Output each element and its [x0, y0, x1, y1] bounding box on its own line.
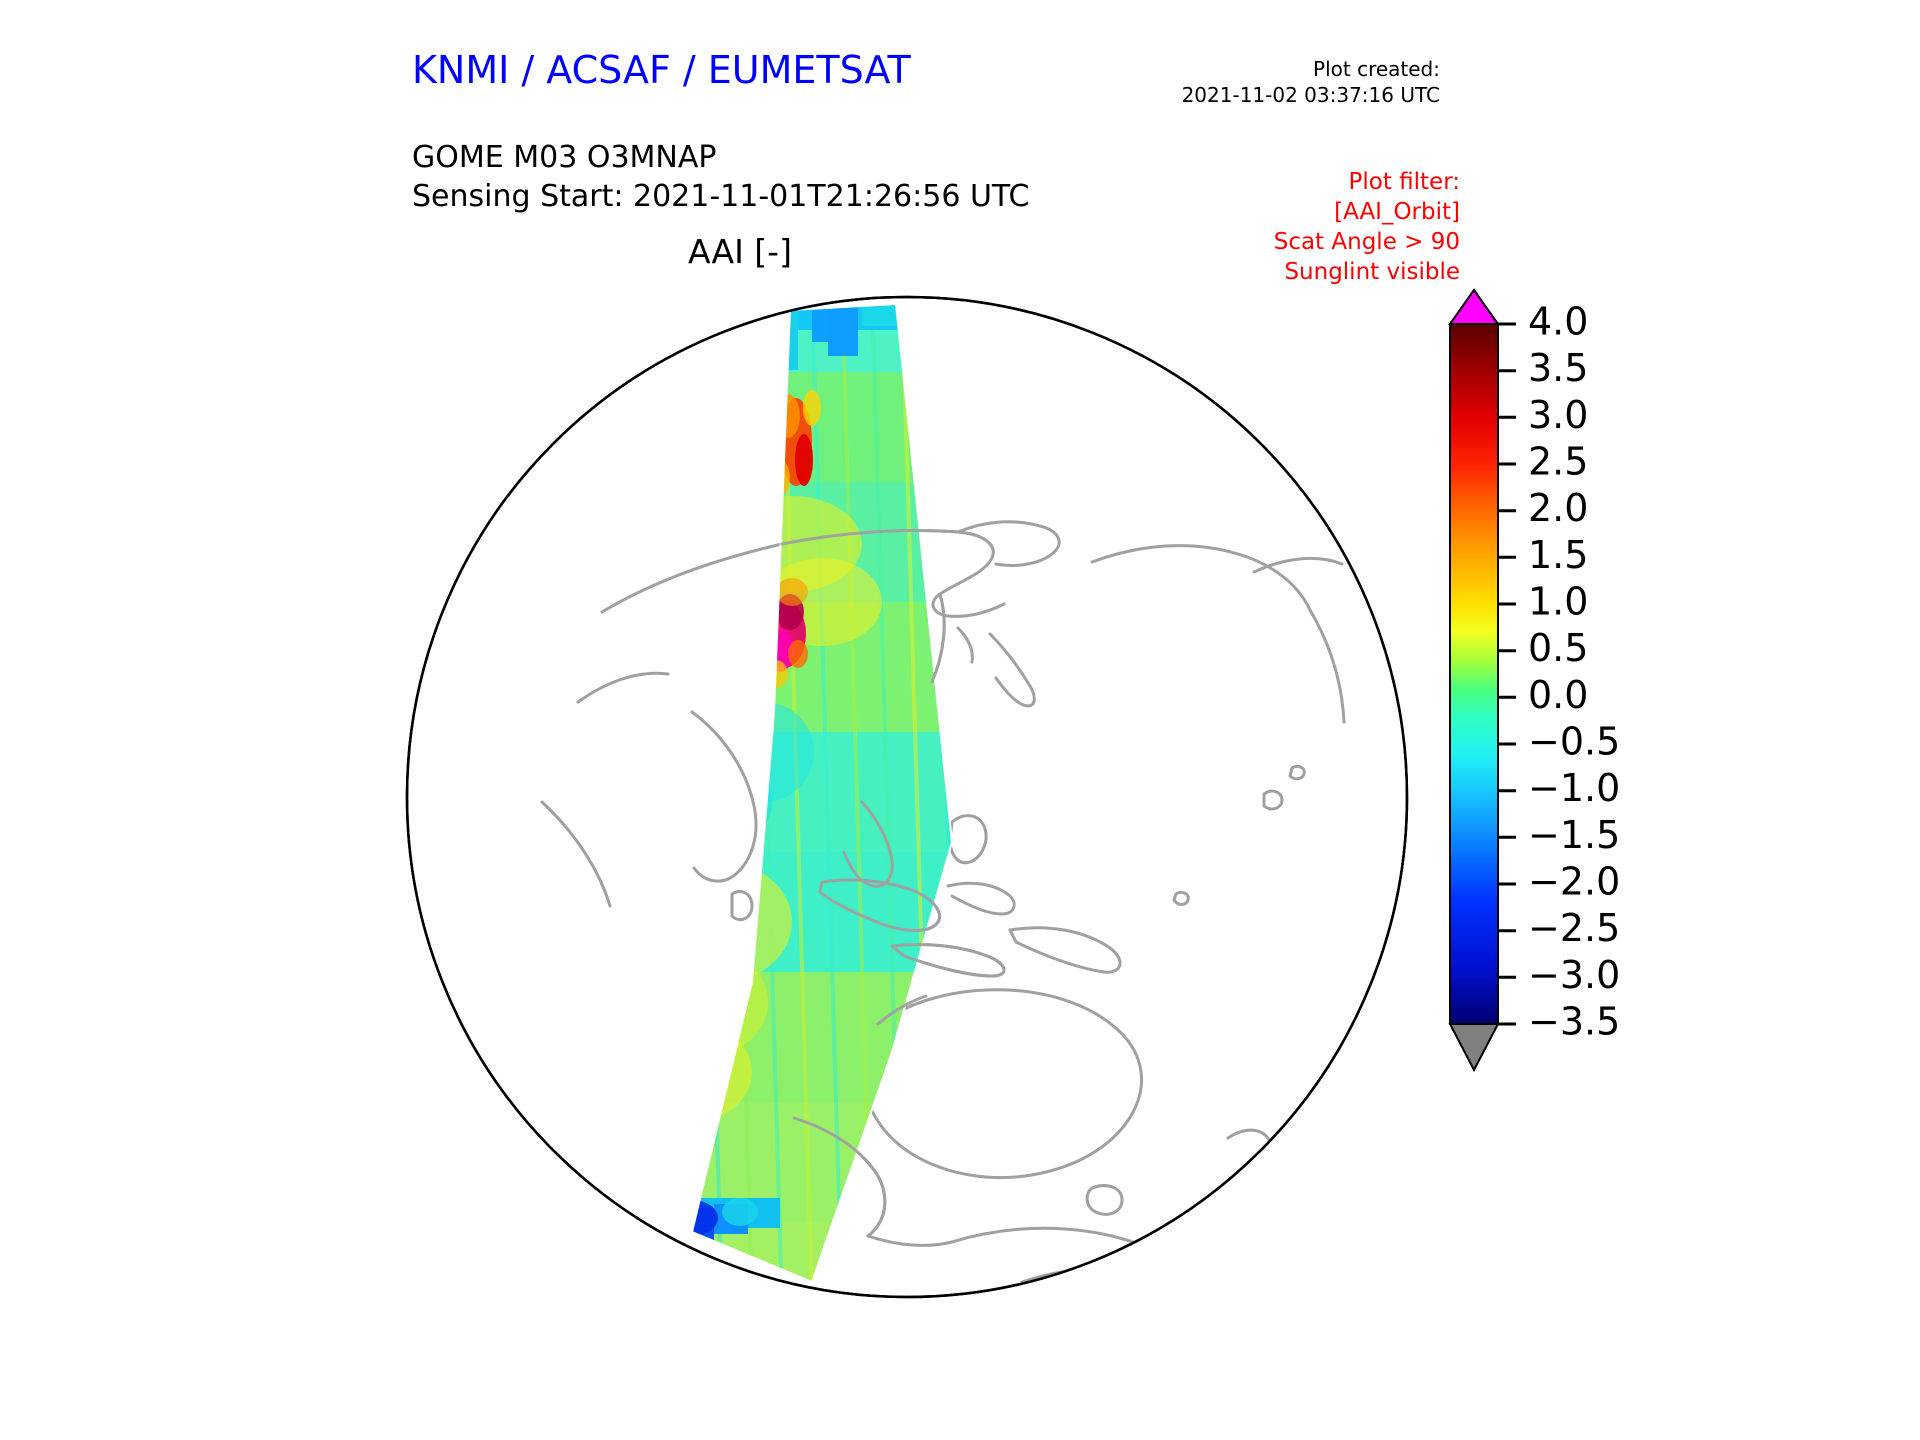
colorbar-tick-label: 2.0: [1528, 486, 1588, 530]
colorbar-tick-label: −3.5: [1528, 1000, 1620, 1044]
colorbar: 4.0 3.5 3.0 2.5 2.0 1.5 1.0 0.5 0.0 −0.5…: [1438, 286, 1668, 1106]
organisation-title: KNMI / ACSAF / EUMETSAT: [412, 48, 911, 92]
colorbar-tick-label: 3.5: [1528, 346, 1588, 390]
colorbar-tick-labels: 4.0 3.5 3.0 2.5 2.0 1.5 1.0 0.5 0.0 −0.5…: [1528, 300, 1620, 1044]
colorbar-tick-label: 4.0: [1528, 300, 1588, 344]
colorbar-tick-label: −3.0: [1528, 953, 1620, 997]
colorbar-tick-label: 0.0: [1528, 673, 1588, 717]
map-panel: [392, 282, 1422, 1312]
plot-created-label: Plot created:: [1110, 56, 1440, 82]
orthographic-globe: [392, 282, 1422, 1312]
colorbar-tick-label: −0.5: [1528, 720, 1620, 764]
colorbar-gradient: [1450, 324, 1498, 1024]
colorbar-tick-label: −2.5: [1528, 906, 1620, 950]
plot-created-block: Plot created: 2021-11-02 03:37:16 UTC: [1110, 56, 1440, 109]
colorbar-ticks: [1498, 324, 1516, 1024]
colorbar-tick-label: −1.5: [1528, 813, 1620, 857]
colorbar-tick-label: 0.5: [1528, 626, 1588, 670]
product-name: GOME M03 O3MNAP: [412, 138, 1029, 177]
product-info-block: GOME M03 O3MNAP Sensing Start: 2021-11-0…: [412, 138, 1029, 216]
sensing-start: Sensing Start: 2021-11-01T21:26:56 UTC: [412, 177, 1029, 216]
colorbar-tick-label: 2.5: [1528, 440, 1588, 484]
colorbar-over-arrow: [1450, 290, 1498, 324]
colorbar-tick-label: 1.5: [1528, 533, 1588, 577]
variable-title: AAI [-]: [0, 232, 1480, 271]
plot-created-timestamp: 2021-11-02 03:37:16 UTC: [1110, 82, 1440, 108]
colorbar-tick-label: 1.0: [1528, 580, 1588, 624]
colorbar-tick-label: −2.0: [1528, 860, 1620, 904]
plot-filter-title: Plot filter:: [1130, 168, 1460, 198]
plot-filter-line-0: [AAI_Orbit]: [1130, 198, 1460, 228]
colorbar-panel: 4.0 3.5 3.0 2.5 2.0 1.5 1.0 0.5 0.0 −0.5…: [1438, 286, 1668, 1106]
colorbar-tick-label: −1.0: [1528, 766, 1620, 810]
colorbar-under-arrow: [1450, 1024, 1498, 1070]
colorbar-tick-label: 3.0: [1528, 393, 1588, 437]
